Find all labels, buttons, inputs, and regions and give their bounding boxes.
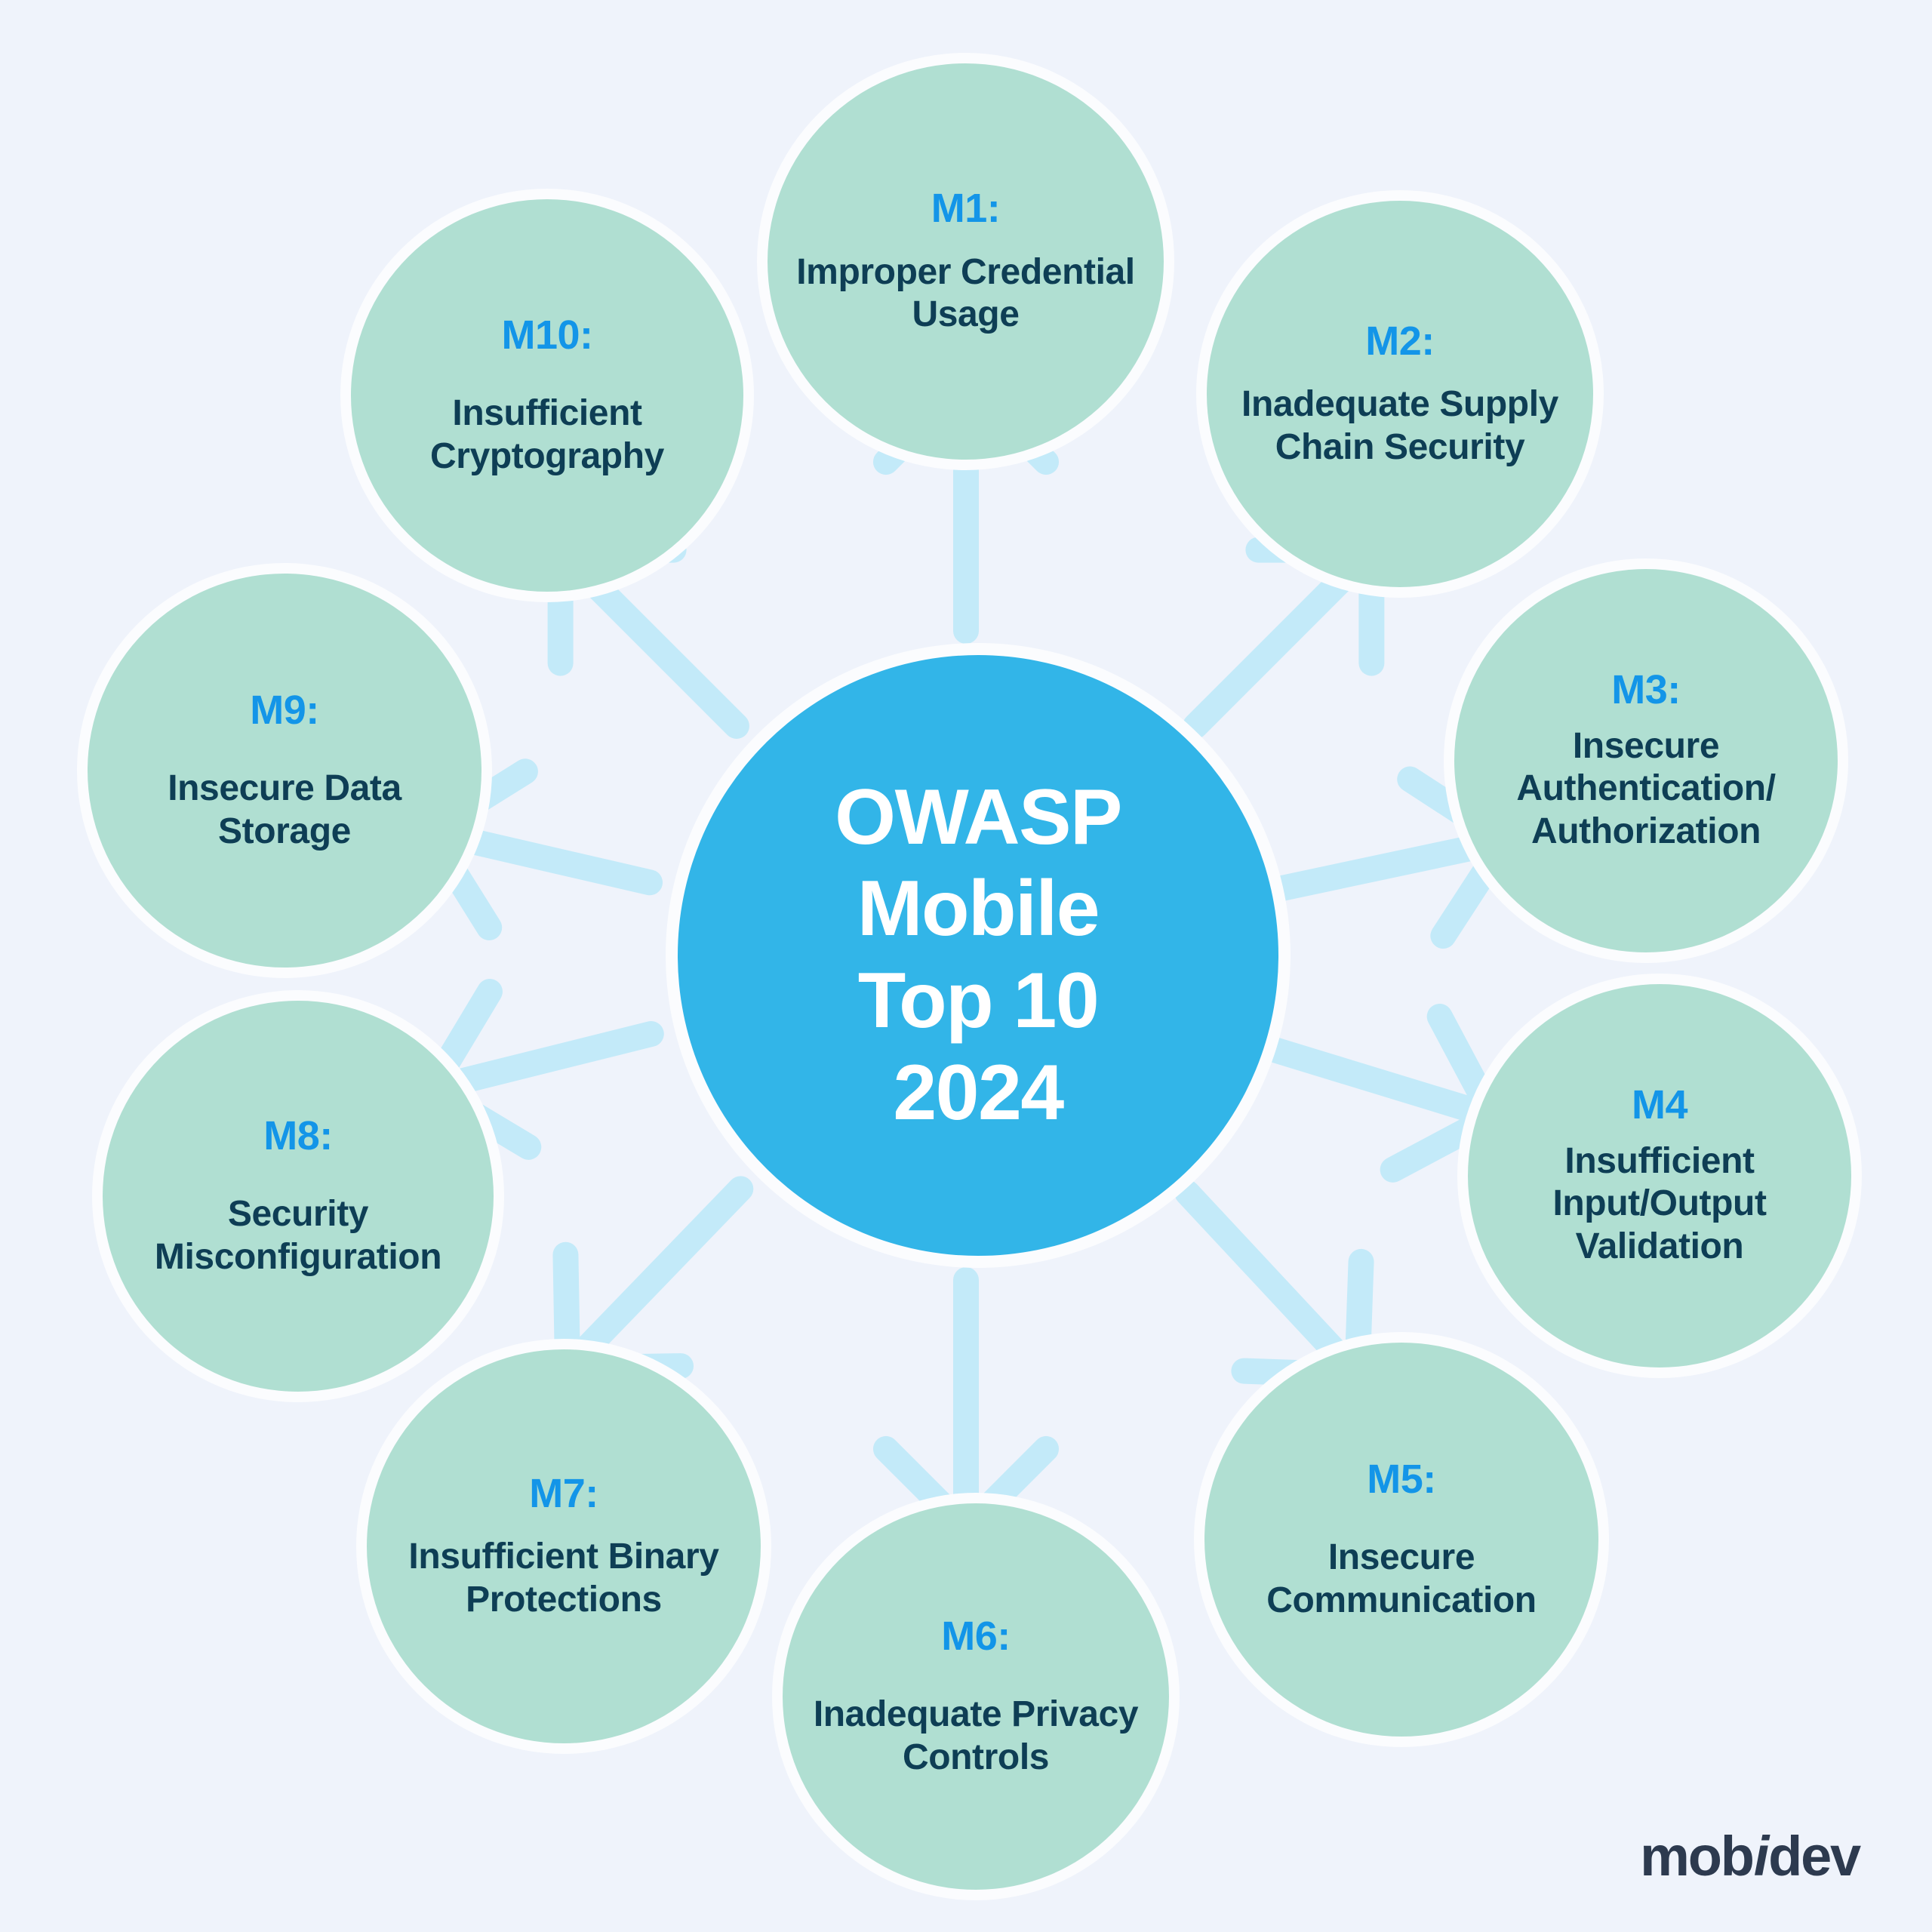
node-m6[interactable]: M6: Inadequate Privacy Controls: [783, 1503, 1169, 1890]
mobidev-logo: mobidev: [1640, 1824, 1860, 1888]
node-m5-code: M5:: [1367, 1457, 1436, 1502]
node-m2-code: M2:: [1365, 319, 1435, 364]
node-m9[interactable]: M9: Insecure Data Storage: [88, 574, 481, 968]
arrow-shaft-m4: [1276, 1051, 1493, 1117]
node-m4-title: Insufficient Input/Output Validation: [1468, 1140, 1851, 1269]
node-m1[interactable]: M1: Improper Credential Usage: [768, 63, 1164, 460]
node-m7-code: M7:: [529, 1472, 598, 1516]
arrow-shaft-m5: [1187, 1192, 1357, 1374]
center-hub: OWASP Mobile Top 10 2024: [678, 655, 1278, 1256]
node-m10-title: Insufficient Cryptography: [351, 392, 743, 478]
arrow-shaft-m8: [432, 1034, 651, 1089]
node-m7-title: Insufficient Binary Protections: [367, 1536, 761, 1621]
node-m8-code: M8:: [263, 1114, 333, 1158]
node-m8-title: Security Misconfiguration: [103, 1193, 494, 1278]
node-m9-title: Insecure Data Storage: [88, 768, 481, 853]
node-m5[interactable]: M5: Insecure Communication: [1204, 1343, 1598, 1737]
node-m5-title: Insecure Communication: [1204, 1537, 1598, 1622]
node-m2[interactable]: M2: Inadequate Supply Chain Security: [1207, 201, 1593, 587]
node-m6-title: Inadequate Privacy Controls: [783, 1694, 1169, 1779]
logo-part-2: dev: [1768, 1824, 1860, 1888]
node-m7[interactable]: M7: Insufficient Binary Protections: [367, 1349, 761, 1743]
logo-part-1: mob: [1640, 1824, 1753, 1888]
arrow-shaft-m7: [568, 1189, 740, 1367]
node-m4[interactable]: M4 Insufficient Input/Output Validation: [1468, 984, 1851, 1367]
node-m10[interactable]: M10: Insufficient Cryptography: [351, 199, 743, 592]
node-m3-code: M3:: [1611, 668, 1681, 712]
node-m8[interactable]: M8: Security Misconfiguration: [103, 1001, 494, 1392]
node-m3[interactable]: M3: Insecure Authentication/ Authorizati…: [1454, 569, 1838, 952]
node-m1-title: Improper Credential Usage: [768, 251, 1164, 337]
node-m1-code: M1:: [931, 186, 1001, 231]
node-m6-code: M6:: [941, 1614, 1011, 1659]
node-m9-code: M9:: [250, 688, 319, 733]
node-m2-title: Inadequate Supply Chain Security: [1207, 383, 1593, 469]
node-m3-title: Insecure Authentication/ Authorization: [1454, 725, 1838, 854]
center-title: OWASP Mobile Top 10 2024: [835, 772, 1121, 1140]
infographic-canvas: OWASP Mobile Top 10 2024 M1: Improper Cr…: [0, 0, 1932, 1932]
node-m10-code: M10:: [501, 313, 592, 358]
logo-italic-i: i: [1753, 1824, 1768, 1888]
node-m4-code: M4: [1632, 1083, 1687, 1128]
